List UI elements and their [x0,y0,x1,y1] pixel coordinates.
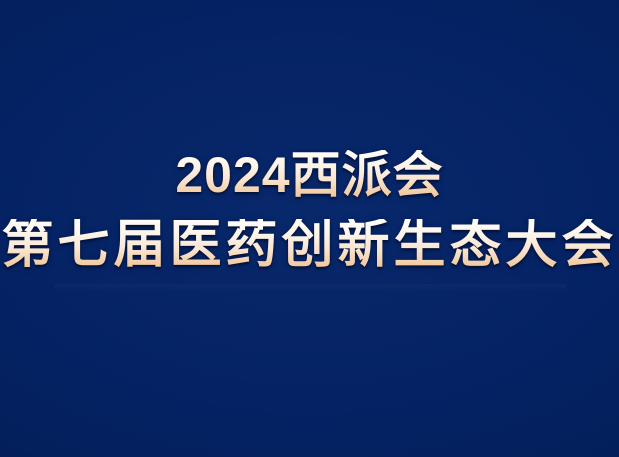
conference-title-poster: 2024西派会 第七届医药创新生态大会 [0,0,619,457]
title-shadow-band [54,284,566,291]
poster-title-primary: 2024西派会 [1,150,617,200]
poster-title-secondary: 第七届医药创新生态大会 [1,219,617,271]
title-block: 2024西派会 第七届医药创新生态大会 [1,150,617,271]
